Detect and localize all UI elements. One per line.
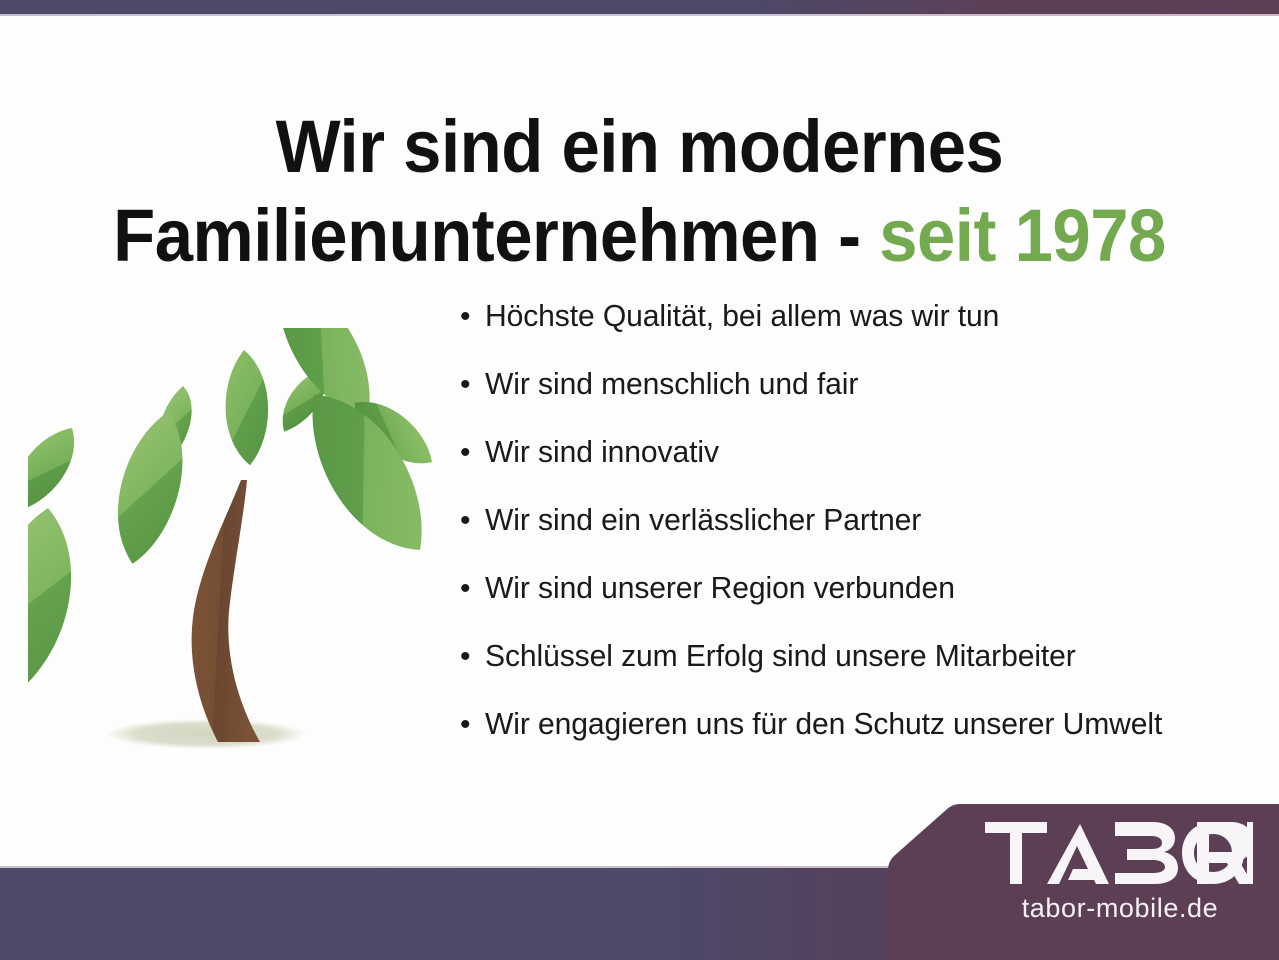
leaf-left-outer bbox=[28, 420, 93, 520]
bullet-dot-icon: • bbox=[455, 574, 485, 604]
slide-canvas: Wir sind ein modernes Familienunternehme… bbox=[0, 0, 1279, 960]
list-item: • Höchste Qualität, bei allem was wir tu… bbox=[455, 300, 1265, 368]
bullet-dot-icon: • bbox=[455, 642, 485, 672]
bullet-dot-icon: • bbox=[455, 710, 485, 740]
list-item-label: Wir engagieren uns für den Schutz unsere… bbox=[485, 708, 1162, 739]
headline-accent: seit 1978 bbox=[879, 194, 1166, 277]
list-item-label: Wir sind menschlich und fair bbox=[485, 368, 858, 399]
list-item-label: Wir sind unserer Region verbunden bbox=[485, 572, 955, 603]
leaf-upper-left bbox=[94, 405, 206, 570]
top-accent-bar bbox=[0, 0, 1279, 14]
headline-line-1: Wir sind ein modernes bbox=[45, 102, 1234, 191]
leaf-lower-left bbox=[28, 500, 104, 707]
bullet-dot-icon: • bbox=[455, 506, 485, 536]
list-item: • Schlüssel zum Erfolg sind unsere Mitar… bbox=[455, 640, 1265, 708]
bullet-dot-icon: • bbox=[455, 302, 485, 332]
list-item: • Wir sind ein verlässlicher Partner bbox=[455, 504, 1265, 572]
list-item: • Wir sind unserer Region verbunden bbox=[455, 572, 1265, 640]
tree-illustration bbox=[28, 328, 438, 768]
bullet-dot-icon: • bbox=[455, 370, 485, 400]
bullet-dot-icon: • bbox=[455, 438, 485, 468]
tree-trunk bbox=[192, 480, 260, 742]
leaf-top-center bbox=[219, 349, 274, 467]
list-item: • Wir sind innovativ bbox=[455, 436, 1265, 504]
tabor-logo-url: tabor-mobile.de bbox=[985, 893, 1255, 923]
list-item: • Wir engagieren uns für den Schutz unse… bbox=[455, 708, 1265, 776]
headline-line-2-prefix: Familienunternehmen - bbox=[113, 194, 879, 277]
tree-shadow bbox=[106, 719, 306, 749]
list-item-label: Schlüssel zum Erfolg sind unsere Mitarbe… bbox=[485, 640, 1076, 671]
value-bullet-list: • Höchste Qualität, bei allem was wir tu… bbox=[455, 300, 1265, 776]
list-item-label: Höchste Qualität, bei allem was wir tun bbox=[485, 300, 999, 331]
list-item-label: Wir sind innovativ bbox=[485, 436, 719, 467]
list-item: • Wir sind menschlich und fair bbox=[455, 368, 1265, 436]
page-title: Wir sind ein modernes Familienunternehme… bbox=[45, 102, 1234, 280]
headline-line-2: Familienunternehmen - seit 1978 bbox=[45, 191, 1234, 280]
tabor-logo-r bbox=[1197, 822, 1253, 884]
top-accent-bar-hairline bbox=[0, 14, 1279, 16]
list-item-label: Wir sind ein verlässlicher Partner bbox=[485, 504, 921, 535]
